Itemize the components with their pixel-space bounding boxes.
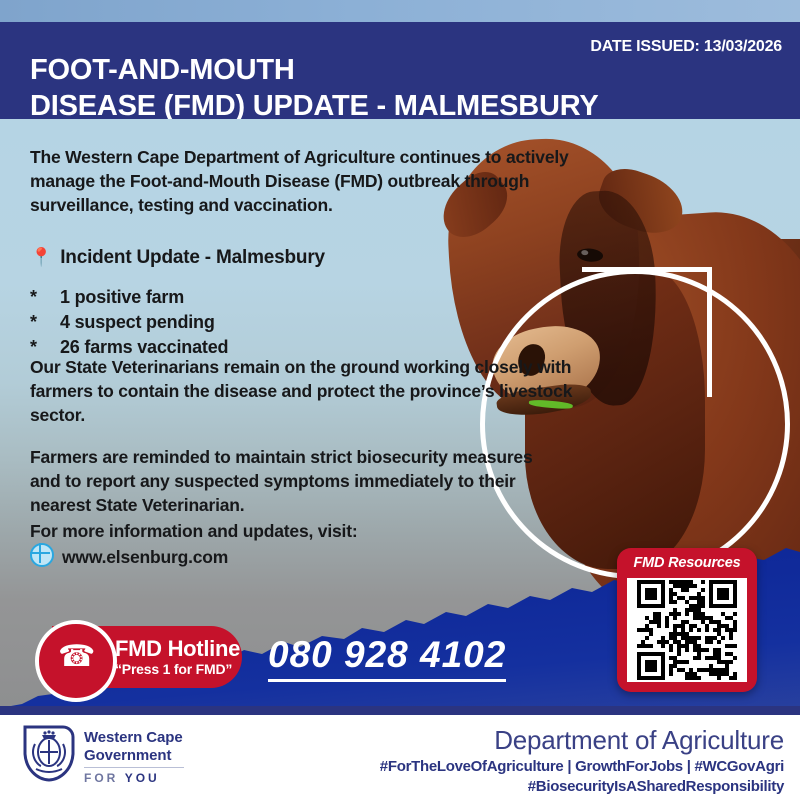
hotline-subtitle: “Press 1 for FMD” — [115, 661, 232, 677]
qr-resources-panel[interactable]: FMD Resources — [617, 548, 757, 692]
header-band: FOOT-AND-MOUTH DISEASE (FMD) UPDATE - MA… — [0, 22, 800, 119]
fmd-update-poster: FOOT-AND-MOUTH DISEASE (FMD) UPDATE - MA… — [0, 0, 800, 800]
website-url-text: www.elsenburg.com — [62, 547, 228, 567]
western-cape-coat-of-arms-icon — [22, 724, 76, 782]
list-item: *1 positive farm — [30, 285, 228, 310]
phone-icon: ☎ — [58, 641, 88, 673]
bullet-text: 1 positive farm — [60, 287, 184, 307]
date-issued: DATE ISSUED: 13/03/2026 — [590, 38, 782, 56]
more-information-paragraph: For more information and updates, visit: — [30, 519, 550, 543]
bullet-text: 4 suspect pending — [60, 312, 215, 332]
globe-icon — [30, 543, 54, 567]
hashtags-line-2: #BiosecurityIsASharedResponsibility — [528, 778, 784, 795]
hotline-title: FMD Hotline — [115, 636, 240, 662]
top-accent-strip — [0, 0, 800, 22]
bullet-marker: * — [30, 285, 60, 310]
hashtags-line-1: #ForTheLoveOfAgriculture | GrowthForJobs… — [380, 758, 784, 775]
qr-panel-label: FMD Resources — [617, 555, 757, 571]
case-statistics-list: *1 positive farm *4 suspect pending *26 … — [30, 285, 228, 360]
qr-code — [637, 580, 737, 680]
intro-paragraph: The Western Cape Department of Agricultu… — [30, 145, 570, 217]
incident-update-label: Incident Update - Malmesbury — [60, 247, 325, 268]
wcg-tagline: FOR YOU — [84, 771, 160, 785]
location-pin-icon: 📍 — [30, 247, 52, 267]
wcg-divider — [84, 767, 184, 768]
page-title: FOOT-AND-MOUTH DISEASE (FMD) UPDATE - MA… — [30, 52, 730, 124]
qr-code-box — [627, 578, 747, 682]
wcg-wordmark: Western Cape Government — [84, 729, 183, 765]
veterinarians-paragraph: Our State Veterinarians remain on the gr… — [30, 355, 575, 427]
incident-update-heading: 📍Incident Update - Malmesbury — [30, 247, 325, 269]
website-link[interactable]: www.elsenburg.com — [30, 543, 228, 568]
list-item: *4 suspect pending — [30, 310, 228, 335]
wcg-line-2: Government — [84, 747, 183, 765]
biosecurity-paragraph: Farmers are reminded to maintain strict … — [30, 445, 560, 517]
page-title-line-1: FOOT-AND-MOUTH — [30, 54, 295, 86]
bullet-text: 26 farms vaccinated — [60, 337, 228, 357]
footer-divider-strip — [0, 706, 800, 715]
hotline-number[interactable]: 080 928 4102 — [268, 634, 506, 682]
wcg-tagline-you: YOU — [125, 771, 160, 785]
department-name: Department of Agriculture — [494, 725, 784, 756]
wcg-line-1: Western Cape — [84, 729, 183, 747]
bullet-marker: * — [30, 310, 60, 335]
footer: Western Cape Government FOR YOU Departme… — [0, 715, 800, 800]
wcg-tagline-for: FOR — [84, 771, 118, 785]
